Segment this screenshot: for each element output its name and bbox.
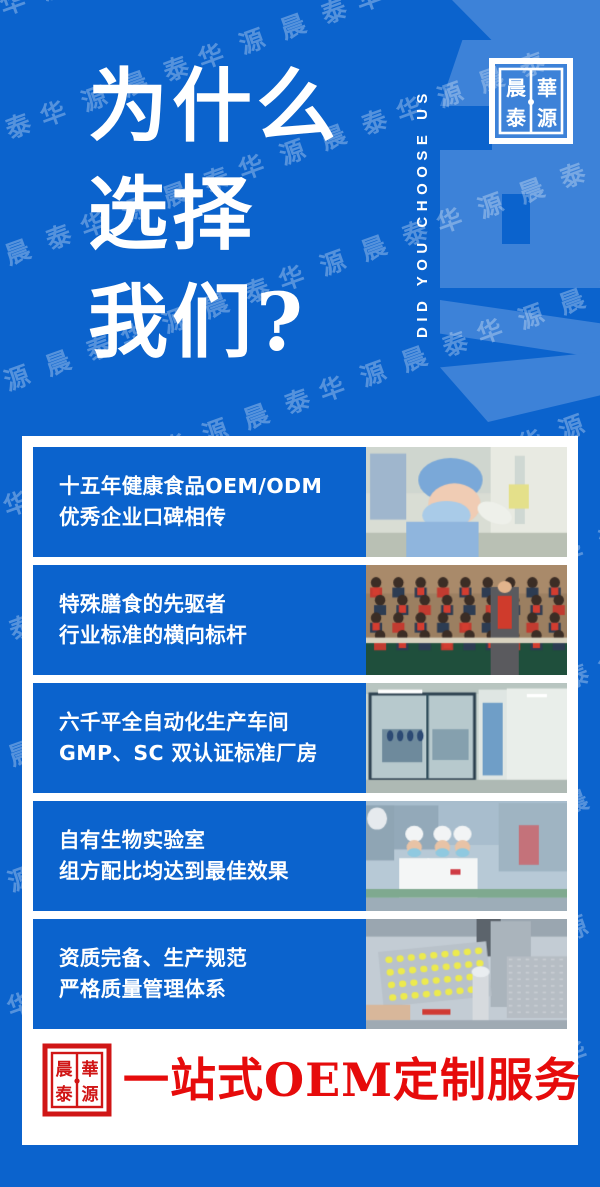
feature-card[interactable]: 资质完备、生产规范严格质量管理体系 (33, 919, 567, 1029)
poster-root: 华 源 晨 泰华 源 晨 泰华 源 晨 泰华 源 晨 泰华 源 晨 泰华 源 晨… (0, 0, 600, 1187)
svg-text:華: 華 (82, 1060, 99, 1080)
poster-header: 为什么 选择 我们? DID YOU CHOOSE US 晨 泰 華 源 (0, 0, 600, 434)
feature-card[interactable]: 六千平全自动化生产车间GMP、SC 双认证标准厂房 (33, 683, 567, 793)
automated-cleanroom-corridor (366, 683, 567, 793)
feature-card[interactable]: 特殊膳食的先驱者行业标准的横向标杆 (33, 565, 567, 675)
svg-text:源: 源 (82, 1084, 99, 1105)
bottom-banner: 晨 泰 華 源 一站式OEM定制服务 (33, 1037, 567, 1123)
svg-text:華: 華 (537, 76, 557, 100)
feature-card-text: 自有生物实验室组方配比均达到最佳效果 (33, 801, 366, 911)
banner-headline: 一站式OEM定制服务 (123, 1057, 581, 1103)
feature-card-text: 资质完备、生产规范严格质量管理体系 (33, 919, 366, 1029)
footer-strip (0, 1145, 600, 1187)
svg-text:泰: 泰 (56, 1084, 74, 1105)
feature-card[interactable]: 十五年健康食品OEM/ODM优秀企业口碑相传 (33, 447, 567, 557)
lab-staff-production-line (366, 801, 567, 911)
conference-audience-hall (366, 565, 567, 675)
feature-card-list: 十五年健康食品OEM/ODM优秀企业口碑相传特殊膳食的先驱者行业标准的横向标杆六… (33, 447, 567, 1029)
lab-technician-inspecting-sample (366, 447, 567, 557)
feature-card[interactable]: 自有生物实验室组方配比均达到最佳效果 (33, 801, 567, 911)
feature-card-line: 十五年健康食品OEM/ODM (59, 471, 366, 502)
svg-text:泰: 泰 (505, 106, 527, 130)
watermark-text: 华 源 晨 泰 (0, 453, 21, 621)
tablet-blister-packing-machine (366, 919, 567, 1029)
svg-text:晨: 晨 (506, 76, 527, 100)
svg-text:晨: 晨 (56, 1060, 74, 1080)
feature-card-line: 组方配比均达到最佳效果 (59, 856, 366, 887)
vertical-tagline: DID YOU CHOOSE US (414, 18, 440, 408)
feature-card-line: 特殊膳食的先驱者 (59, 589, 366, 620)
feature-card-text: 六千平全自动化生产车间GMP、SC 双认证标准厂房 (33, 683, 366, 793)
content-frame: 十五年健康食品OEM/ODM优秀企业口碑相传特殊膳食的先驱者行业标准的横向标杆六… (22, 436, 578, 1145)
company-seal-logo: 晨 泰 華 源 (489, 57, 573, 145)
svg-text:源: 源 (537, 106, 557, 130)
feature-card-line: 六千平全自动化生产车间 (59, 707, 366, 738)
feature-card-line: 行业标准的横向标杆 (59, 620, 366, 651)
feature-card-line: 自有生物实验室 (59, 825, 366, 856)
watermark-text: 华 源 晨 泰 (575, 556, 600, 724)
feature-card-line: 优秀企业口碑相传 (59, 502, 366, 533)
title-line-2: 选择 (88, 160, 340, 268)
banner-seal-logo: 晨 泰 華 源 (41, 1042, 113, 1118)
feature-card-text: 特殊膳食的先驱者行业标准的横向标杆 (33, 565, 366, 675)
title-line-3: 我们? (88, 268, 340, 376)
page-title: 为什么 选择 我们? (88, 52, 340, 376)
feature-card-line: 资质完备、生产规范 (59, 943, 366, 974)
title-line-1: 为什么 (88, 52, 340, 160)
feature-card-line: 严格质量管理体系 (59, 974, 366, 1005)
feature-card-text: 十五年健康食品OEM/ODM优秀企业口碑相传 (33, 447, 366, 557)
feature-card-line: GMP、SC 双认证标准厂房 (59, 738, 366, 769)
